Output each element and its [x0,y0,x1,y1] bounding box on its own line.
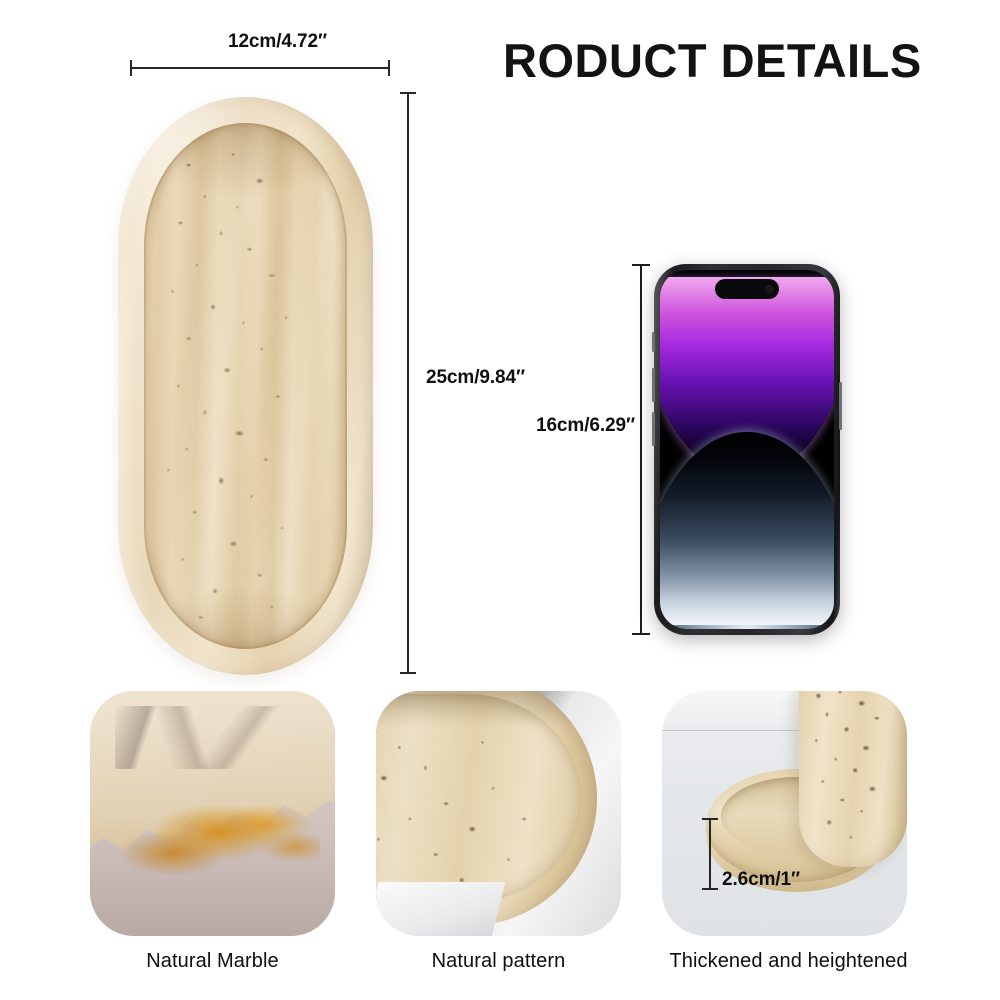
phone-height-label: 16cm/6.29″ [536,415,635,437]
thickness-label: 2.6cm/1″ [722,869,800,891]
thickness-dimension-line [709,818,711,890]
tray-width-label: 12cm/4.72″ [228,31,327,53]
thumb1-grey-veining [115,706,287,770]
thumb1-gold-veining [110,789,321,892]
product-detail-page: RODUCT DETAILS 12cm/4.72″ 25cm/9.84″ [0,0,1000,1000]
phone-screen [660,270,834,629]
phone-height-dimension-line [640,264,642,635]
travertine-pores-texture [144,123,347,649]
front-camera-icon [765,285,773,293]
tray-height-dimension-line [407,92,409,674]
phone-scale-reference [654,264,840,635]
tray-width-dimension-line [130,67,390,69]
page-title: RODUCT DETAILS [503,37,922,84]
tray-height-label: 25cm/9.84″ [426,367,525,389]
feature-thumbnail-thickness [662,691,907,936]
thumb2-countertop [376,882,506,936]
thumb3-cylinder-pores [799,691,907,867]
phone-volume-down-button [652,412,655,446]
feature-caption-natural-pattern: Natural pattern [376,950,621,973]
feature-caption-thickness: Thickened and heightened [662,950,915,973]
phone-volume-up-button [652,368,655,402]
thumb2-top-shadow [376,691,597,727]
phone-wallpaper [660,270,834,629]
thumb3-stone-cylinder [799,691,907,867]
phone-power-button [839,382,842,430]
feature-thumbnail-natural-marble [90,691,335,936]
feature-thumbnail-natural-pattern [376,691,621,936]
feature-caption-natural-marble: Natural Marble [90,950,335,973]
tray-product-image [118,97,373,675]
phone-mute-switch [652,332,655,352]
tray-outer-body [118,97,373,675]
tray-inner-well [144,123,347,649]
dynamic-island [715,279,779,299]
wallpaper-blue-arc [660,432,834,626]
